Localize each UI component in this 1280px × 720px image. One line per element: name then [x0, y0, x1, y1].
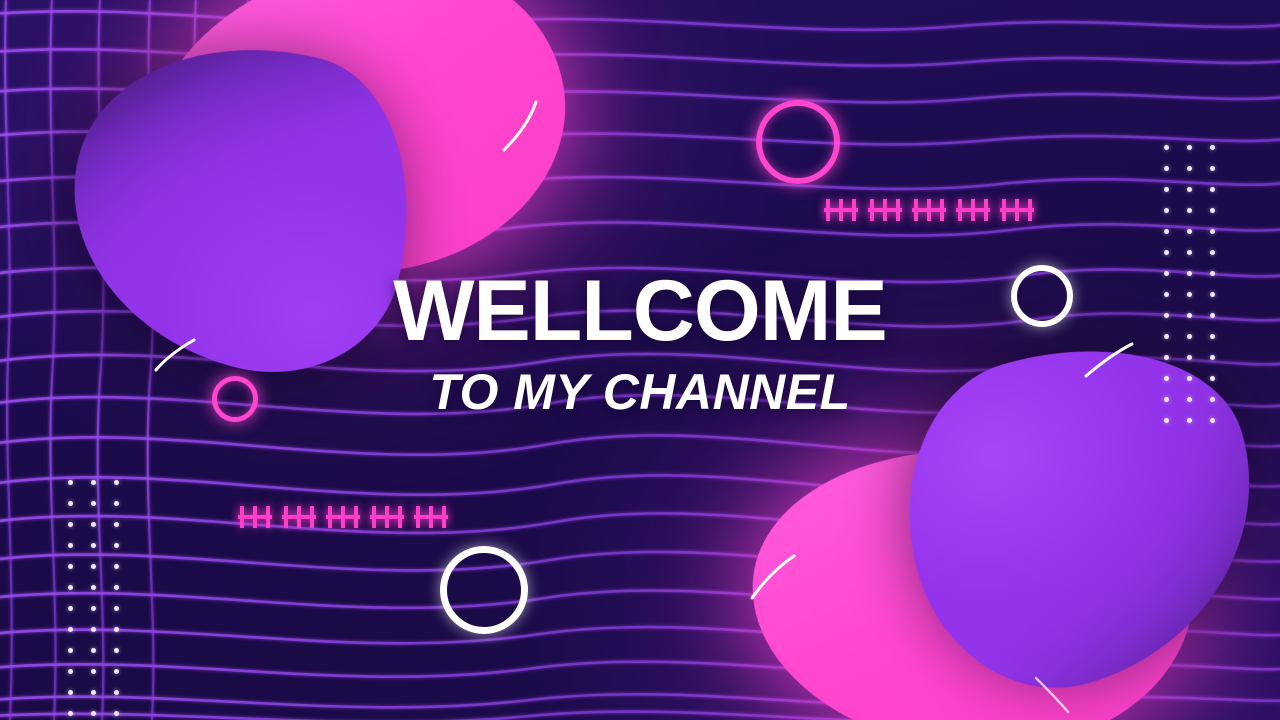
grid-dot	[114, 669, 119, 674]
grid-dot	[114, 522, 119, 527]
grid-dot	[1187, 187, 1192, 192]
tally-group	[868, 199, 902, 221]
tally-row-left	[238, 506, 448, 528]
grid-dot	[68, 627, 73, 632]
tally-tick	[354, 506, 358, 528]
tally-group	[238, 506, 272, 528]
grid-dot	[1210, 418, 1215, 423]
grid-dot	[91, 501, 96, 506]
tally-tick	[940, 199, 944, 221]
tally-group	[1000, 199, 1034, 221]
tally-tick	[253, 506, 257, 528]
grid-dot	[91, 648, 96, 653]
grid-dot	[68, 501, 73, 506]
tally-tick	[1002, 199, 1006, 221]
grid-dot	[114, 480, 119, 485]
page-title: WELLCOME	[0, 270, 1280, 353]
grid-dot	[1187, 166, 1192, 171]
tally-tick	[385, 506, 389, 528]
grid-dot	[1210, 145, 1215, 150]
tally-tick	[914, 199, 918, 221]
tally-group	[370, 506, 404, 528]
grid-dot	[68, 522, 73, 527]
dot-grid-left	[68, 480, 119, 720]
tally-tick	[442, 506, 446, 528]
grid-dot	[68, 606, 73, 611]
tally-group	[912, 199, 946, 221]
grid-dot	[114, 627, 119, 632]
tally-group	[956, 199, 990, 221]
grid-dot	[1210, 187, 1215, 192]
grid-dot	[114, 606, 119, 611]
grid-dot	[1187, 208, 1192, 213]
grid-dot	[114, 648, 119, 653]
tally-tick	[896, 199, 900, 221]
tally-tick	[284, 506, 288, 528]
grid-dot	[114, 564, 119, 569]
ring-white-large	[440, 546, 528, 634]
grid-dot	[91, 543, 96, 548]
grid-dot	[1210, 229, 1215, 234]
grid-dot	[1164, 145, 1169, 150]
banner-canvas: WELLCOME TO MY CHANNEL	[0, 0, 1280, 720]
tally-tick	[310, 506, 314, 528]
grid-dot	[114, 501, 119, 506]
grid-dot	[91, 522, 96, 527]
grid-dot	[1164, 187, 1169, 192]
grid-dot	[1187, 250, 1192, 255]
grid-dot	[91, 669, 96, 674]
grid-dot	[1187, 145, 1192, 150]
tally-group	[282, 506, 316, 528]
grid-dot	[68, 564, 73, 569]
grid-dot	[91, 564, 96, 569]
grid-dot	[114, 585, 119, 590]
grid-dot	[68, 669, 73, 674]
page-subtitle: TO MY CHANNEL	[0, 367, 1280, 417]
tally-tick	[372, 506, 376, 528]
grid-dot	[68, 480, 73, 485]
grid-dot	[1164, 418, 1169, 423]
tally-group	[824, 199, 858, 221]
tally-tick	[240, 506, 244, 528]
grid-dot	[91, 690, 96, 695]
tally-tick	[870, 199, 874, 221]
grid-dot	[91, 711, 96, 716]
tally-tick	[398, 506, 402, 528]
tally-tick	[297, 506, 301, 528]
tally-tick	[971, 199, 975, 221]
tally-tick	[984, 199, 988, 221]
tally-tick	[826, 199, 830, 221]
grid-dot	[91, 585, 96, 590]
grid-dot	[1164, 208, 1169, 213]
grid-dot	[68, 690, 73, 695]
tally-tick	[883, 199, 887, 221]
grid-dot	[114, 690, 119, 695]
tally-row-right	[824, 199, 1034, 221]
grid-dot	[1164, 229, 1169, 234]
tally-tick	[429, 506, 433, 528]
tally-tick	[852, 199, 856, 221]
ring-pink-large	[756, 100, 840, 184]
grid-dot	[1210, 250, 1215, 255]
grid-dot	[1210, 208, 1215, 213]
grid-dot	[91, 627, 96, 632]
grid-dot	[68, 585, 73, 590]
grid-dot	[1210, 166, 1215, 171]
grid-dot	[1187, 418, 1192, 423]
tally-tick	[927, 199, 931, 221]
tally-tick	[958, 199, 962, 221]
tally-tick	[266, 506, 270, 528]
grid-dot	[1187, 229, 1192, 234]
tally-tick	[341, 506, 345, 528]
tally-tick	[416, 506, 420, 528]
tally-tick	[1015, 199, 1019, 221]
grid-dot	[114, 711, 119, 716]
tally-tick	[328, 506, 332, 528]
tally-group	[326, 506, 360, 528]
grid-dot	[1164, 166, 1169, 171]
tally-tick	[839, 199, 843, 221]
grid-dot	[68, 648, 73, 653]
grid-dot	[1164, 250, 1169, 255]
tally-group	[414, 506, 448, 528]
headline-block: WELLCOME TO MY CHANNEL	[0, 270, 1280, 417]
grid-dot	[114, 543, 119, 548]
grid-dot	[91, 606, 96, 611]
grid-dot	[68, 711, 73, 716]
grid-dot	[91, 480, 96, 485]
grid-dot	[68, 543, 73, 548]
tally-tick	[1028, 199, 1032, 221]
